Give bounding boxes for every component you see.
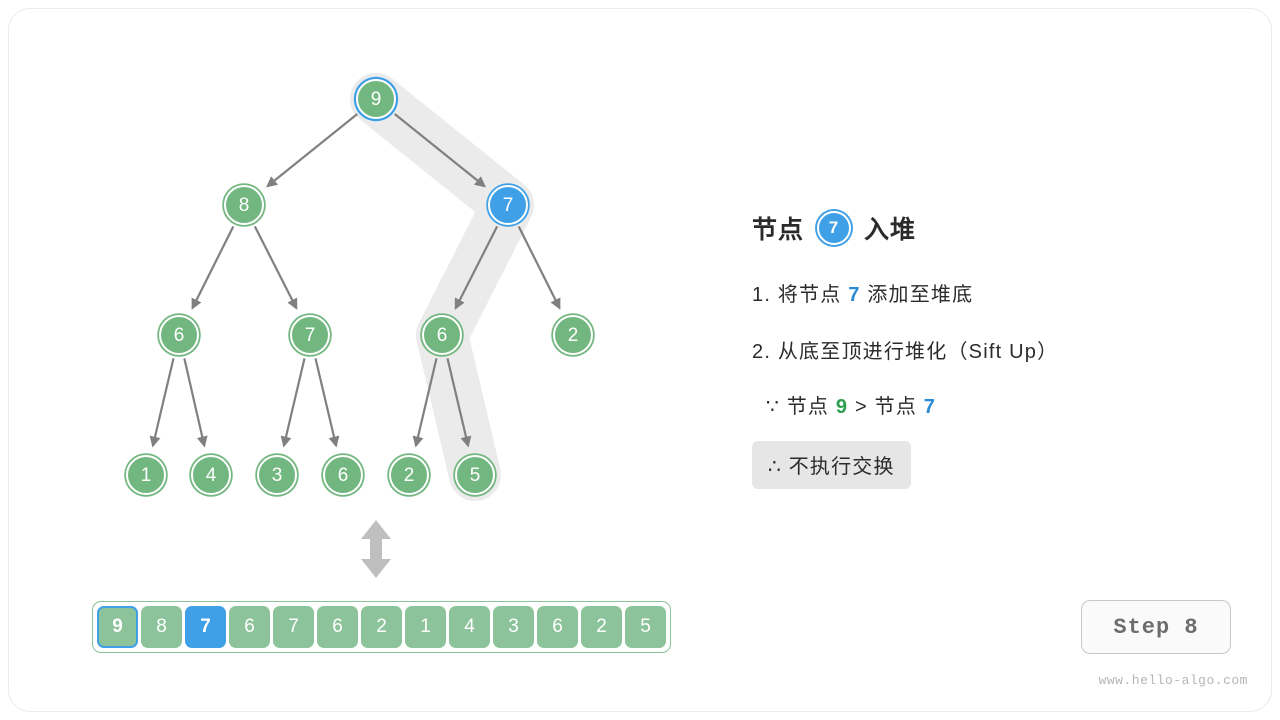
step-item-1: 1. 将节点 7 添加至堆底 <box>752 278 1212 307</box>
panel-title-prefix: 节点 <box>752 210 804 246</box>
tree-node[interactable]: 7 <box>488 185 528 225</box>
conclusion-text: 不执行交换 <box>789 456 895 478</box>
array-cell[interactable]: 8 <box>141 606 182 648</box>
reason-mid: 节点 <box>875 396 917 418</box>
step-badge: Step 8 <box>1081 600 1231 654</box>
therefore-symbol: ∴ <box>768 456 782 478</box>
tree-edge <box>284 358 305 445</box>
tree-edge <box>153 358 174 445</box>
tree-node[interactable]: 5 <box>455 455 495 495</box>
binary-heap-tree: 9876762143625 <box>0 0 720 560</box>
array-cell[interactable]: 6 <box>229 606 270 648</box>
panel-title-suffix: 入堆 <box>864 210 916 246</box>
array-cell[interactable]: 7 <box>273 606 314 648</box>
tree-node[interactable]: 6 <box>422 315 462 355</box>
tree-edge <box>184 358 204 445</box>
tree-edge <box>519 226 560 308</box>
conclusion-badge: ∴ 不执行交换 <box>752 441 911 489</box>
array-cell[interactable]: 5 <box>625 606 666 648</box>
tree-edge <box>192 226 233 308</box>
array-cell[interactable]: 2 <box>581 606 622 648</box>
tree-node[interactable]: 9 <box>356 79 396 119</box>
reason-line: ∵ 节点 9 > 节点 7 <box>752 390 1212 419</box>
array-cell[interactable]: 9 <box>97 606 138 648</box>
array-cell[interactable]: 2 <box>361 606 402 648</box>
explanation-panel: 节点 7 入堆 1. 将节点 7 添加至堆底 2. 从底至顶进行堆化（Sift … <box>752 206 1212 489</box>
tree-node[interactable]: 2 <box>389 455 429 495</box>
step-1-number: 1. <box>752 284 771 306</box>
reason-right-value: 7 <box>924 396 936 418</box>
tree-node[interactable]: 8 <box>224 185 264 225</box>
step-1-before: 将节点 <box>778 284 842 306</box>
tree-edge <box>255 226 297 308</box>
panel-title-node-badge: 7 <box>817 211 851 245</box>
reason-operator: > <box>855 396 868 418</box>
because-symbol: ∵ <box>766 396 780 418</box>
tree-node[interactable]: 1 <box>126 455 166 495</box>
step-2-before: 从底至顶进行堆化（Sift Up） <box>778 341 1058 363</box>
tree-edge <box>267 114 357 186</box>
array-cell[interactable]: 3 <box>493 606 534 648</box>
step-1-highlight: 7 <box>848 284 860 306</box>
step-1-after: 添加至堆底 <box>867 284 973 306</box>
array-cell[interactable]: 6 <box>317 606 358 648</box>
sift-up-highlight-path <box>376 99 508 475</box>
slide-canvas: 9876762143625 9876762143625 节点 7 入堆 1. 将… <box>0 0 1280 720</box>
array-cell[interactable]: 1 <box>405 606 446 648</box>
tree-array-sync-arrow <box>358 518 394 580</box>
array-cell[interactable]: 4 <box>449 606 490 648</box>
array-cell[interactable]: 6 <box>537 606 578 648</box>
step-item-2: 2. 从底至顶进行堆化（Sift Up） <box>752 335 1212 364</box>
tree-node[interactable]: 7 <box>290 315 330 355</box>
heap-array: 9876762143625 <box>92 601 671 653</box>
panel-title: 节点 7 入堆 <box>752 206 1212 250</box>
footer-url: www.hello-algo.com <box>1099 673 1248 688</box>
tree-node[interactable]: 3 <box>257 455 297 495</box>
tree-edge <box>316 358 337 445</box>
reason-pre: 节点 <box>787 396 829 418</box>
tree-node[interactable]: 6 <box>159 315 199 355</box>
tree-node[interactable]: 6 <box>323 455 363 495</box>
reason-left-value: 9 <box>836 396 848 418</box>
tree-node[interactable]: 2 <box>553 315 593 355</box>
tree-node[interactable]: 4 <box>191 455 231 495</box>
array-cell[interactable]: 7 <box>185 606 226 648</box>
step-2-number: 2. <box>752 341 771 363</box>
